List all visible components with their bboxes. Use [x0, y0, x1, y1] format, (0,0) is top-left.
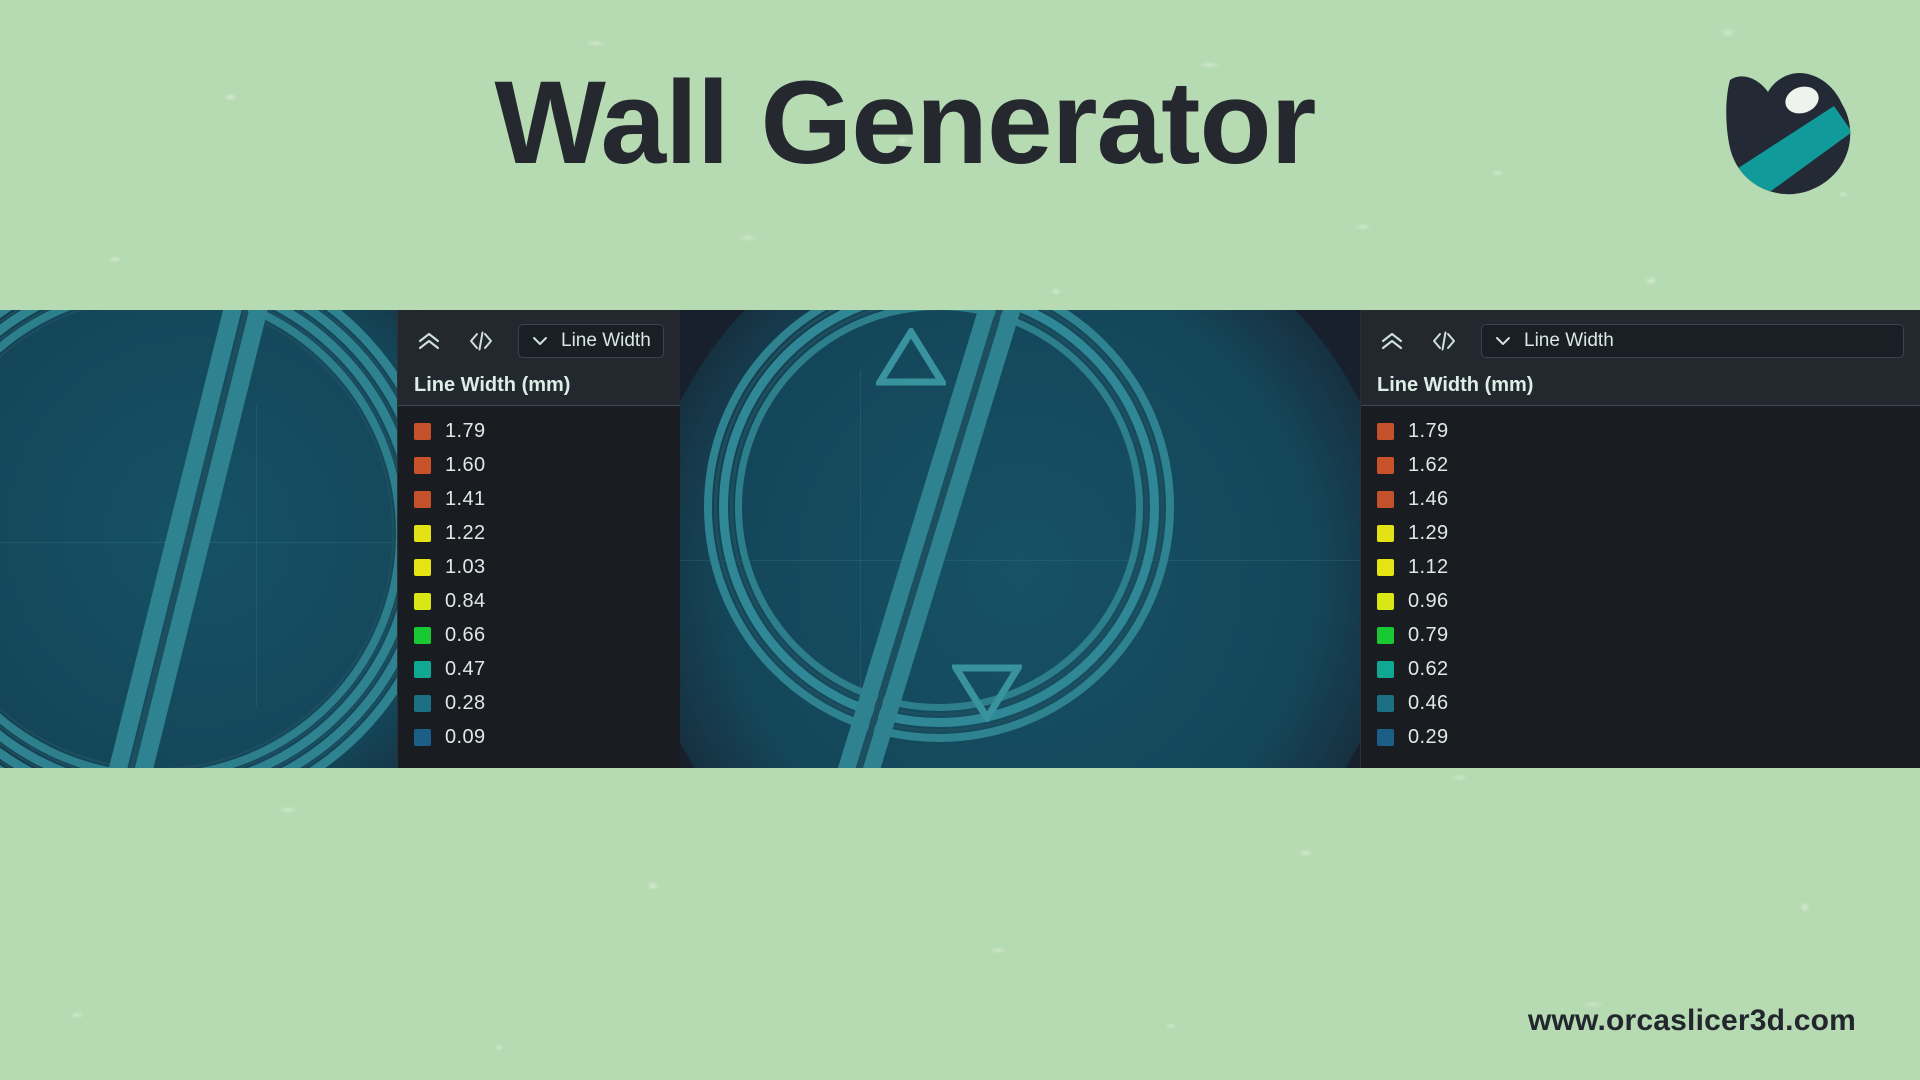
page-title: Wall Generator: [0, 64, 1920, 182]
right-legend-list: 1.791.621.461.291.120.960.790.620.460.29: [1361, 406, 1920, 768]
legend-row: 0.47: [414, 652, 664, 686]
legend-value: 0.66: [445, 624, 486, 647]
legend-color-swatch: [414, 491, 431, 508]
legend-row: 1.79: [414, 414, 664, 448]
right-3d-viewport[interactable]: [680, 310, 1360, 768]
legend-color-swatch: [1377, 661, 1394, 678]
legend-row: 0.46: [1377, 686, 1904, 720]
legend-color-swatch: [414, 627, 431, 644]
left-legend-list: 1.791.601.411.221.030.840.660.470.280.09: [398, 406, 680, 768]
legend-color-swatch: [414, 661, 431, 678]
legend-row: 0.79: [1377, 618, 1904, 652]
legend-row: 0.29: [1377, 720, 1904, 754]
legend-row: 1.46: [1377, 482, 1904, 516]
double-chevron-up-icon[interactable]: [1377, 326, 1407, 356]
left-view-mode-label: Line Width: [561, 330, 651, 352]
slicer-preview-panels: Line Width Line Width (mm) 1.791.601.411…: [0, 310, 1920, 768]
legend-row: 0.28: [414, 686, 664, 720]
legend-color-swatch: [414, 695, 431, 712]
legend-value: 1.12: [1408, 556, 1449, 579]
legend-value: 1.60: [445, 454, 486, 477]
orcaslicer-orca-logo: [1724, 48, 1856, 198]
legend-color-swatch: [1377, 457, 1394, 474]
code-brackets-icon[interactable]: [466, 326, 496, 356]
poster-canvas: Wall Generator: [0, 0, 1920, 1080]
legend-color-swatch: [1377, 729, 1394, 746]
legend-row: 0.84: [414, 584, 664, 618]
legend-color-swatch: [414, 559, 431, 576]
legend-color-swatch: [1377, 423, 1394, 440]
right-view-mode-label: Line Width: [1524, 330, 1614, 352]
legend-value: 0.84: [445, 590, 486, 613]
legend-value: 0.09: [445, 726, 486, 749]
legend-value: 0.62: [1408, 658, 1449, 681]
right-preview-panel: Line Width Line Width (mm) 1.791.621.461…: [680, 310, 1920, 768]
rib-top-junction: [876, 328, 946, 388]
left-3d-viewport[interactable]: [0, 310, 397, 768]
legend-color-swatch: [1377, 559, 1394, 576]
legend-color-swatch: [1377, 695, 1394, 712]
legend-value: 0.29: [1408, 726, 1449, 749]
chevron-down-icon: [1494, 332, 1512, 350]
left-legend-toolbar: Line Width: [398, 310, 680, 368]
legend-row: 1.29: [1377, 516, 1904, 550]
legend-row: 0.66: [414, 618, 664, 652]
legend-color-swatch: [1377, 593, 1394, 610]
legend-color-swatch: [1377, 627, 1394, 644]
legend-value: 1.79: [445, 420, 486, 443]
legend-color-swatch: [1377, 491, 1394, 508]
legend-row: 1.41: [414, 482, 664, 516]
legend-row: 1.12: [1377, 550, 1904, 584]
legend-value: 1.03: [445, 556, 486, 579]
chevron-down-icon: [531, 332, 549, 350]
left-legend-heading: Line Width (mm): [398, 368, 680, 406]
legend-value: 1.79: [1408, 420, 1449, 443]
legend-value: 0.47: [445, 658, 486, 681]
legend-value: 0.96: [1408, 590, 1449, 613]
legend-value: 1.41: [445, 488, 486, 511]
legend-value: 1.62: [1408, 454, 1449, 477]
legend-value: 1.22: [445, 522, 486, 545]
website-url: www.orcaslicer3d.com: [1528, 1004, 1856, 1038]
legend-row: 1.22: [414, 516, 664, 550]
legend-row: 1.03: [414, 550, 664, 584]
legend-color-swatch: [414, 423, 431, 440]
legend-row: 1.60: [414, 448, 664, 482]
legend-color-swatch: [414, 525, 431, 542]
left-view-mode-dropdown[interactable]: Line Width: [518, 324, 664, 358]
legend-color-swatch: [414, 593, 431, 610]
legend-value: 1.46: [1408, 488, 1449, 511]
legend-value: 1.29: [1408, 522, 1449, 545]
right-legend-toolbar: Line Width: [1361, 310, 1920, 368]
rib-bottom-junction: [952, 662, 1022, 722]
legend-row: 0.62: [1377, 652, 1904, 686]
legend-row: 1.62: [1377, 448, 1904, 482]
legend-value: 0.79: [1408, 624, 1449, 647]
legend-row: 0.09: [414, 720, 664, 754]
left-legend-panel: Line Width Line Width (mm) 1.791.601.411…: [397, 310, 680, 768]
legend-row: 0.96: [1377, 584, 1904, 618]
legend-row: 1.79: [1377, 414, 1904, 448]
legend-color-swatch: [414, 729, 431, 746]
right-view-mode-dropdown[interactable]: Line Width: [1481, 324, 1904, 358]
legend-color-swatch: [414, 457, 431, 474]
legend-value: 0.28: [445, 692, 486, 715]
left-preview-panel: Line Width Line Width (mm) 1.791.601.411…: [0, 310, 680, 768]
legend-color-swatch: [1377, 525, 1394, 542]
double-chevron-up-icon[interactable]: [414, 326, 444, 356]
code-brackets-icon[interactable]: [1429, 326, 1459, 356]
right-legend-panel: Line Width Line Width (mm) 1.791.621.461…: [1360, 310, 1920, 768]
right-legend-heading: Line Width (mm): [1361, 368, 1920, 406]
legend-value: 0.46: [1408, 692, 1449, 715]
